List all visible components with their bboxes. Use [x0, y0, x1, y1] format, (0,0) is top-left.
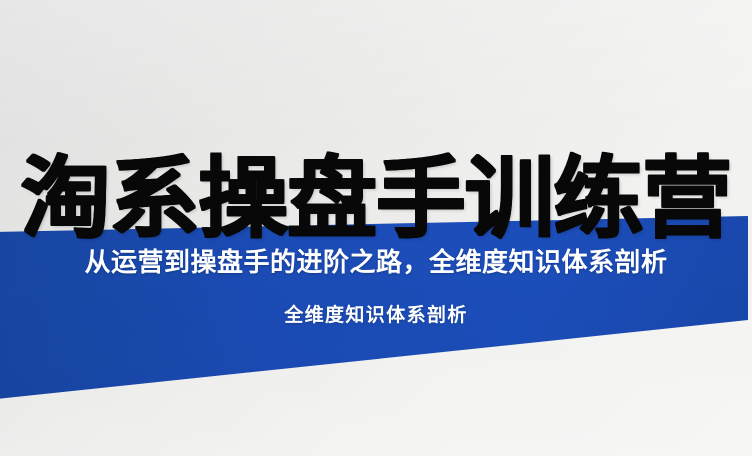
- course-poster: · · · · · · · · · · 淘系操盘手训练营 从运营到操盘手的进阶之…: [0, 0, 752, 456]
- watermark-top-right: · · · · · · · · · ·: [647, 52, 730, 59]
- title-container: 淘系操盘手训练营: [0, 96, 752, 302]
- watermark-mid-low: · · · ·: [286, 400, 313, 406]
- poster-title: 淘系操盘手训练营: [21, 155, 731, 243]
